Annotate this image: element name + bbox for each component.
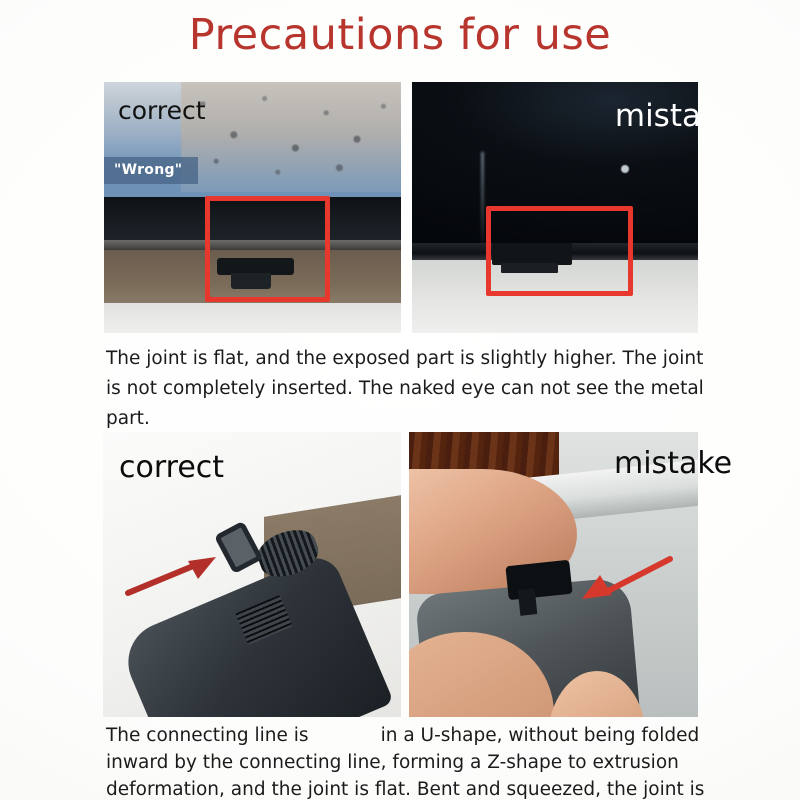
photo-connector-stem	[518, 588, 538, 615]
badge-wrong: "Wrong"	[104, 157, 198, 184]
photo-texture-region	[181, 82, 401, 192]
caption-top-section: The joint is flat, and the exposed part …	[106, 344, 706, 434]
label-mistake-top: mista	[615, 98, 698, 134]
photo-glare-streak	[481, 152, 484, 252]
highlight-rectangle-top-left	[205, 196, 330, 302]
photo-connector-plug	[506, 560, 573, 601]
photo-light-dot	[621, 165, 629, 173]
caption-bottom-section: The connecting line isin a U-shape, with…	[106, 722, 731, 800]
photo-floor-surface	[104, 303, 401, 333]
label-mistake-bottom: mistake	[614, 446, 800, 481]
caption-bottom-part-1: The connecting line is	[106, 725, 309, 746]
label-correct-top: correct	[118, 96, 206, 125]
highlight-rectangle-top-right	[486, 206, 633, 296]
label-correct-bottom: correct	[119, 450, 224, 485]
page-title: Precautions for use	[0, 10, 800, 60]
photo-bottom-left-correct: correct	[103, 432, 401, 717]
